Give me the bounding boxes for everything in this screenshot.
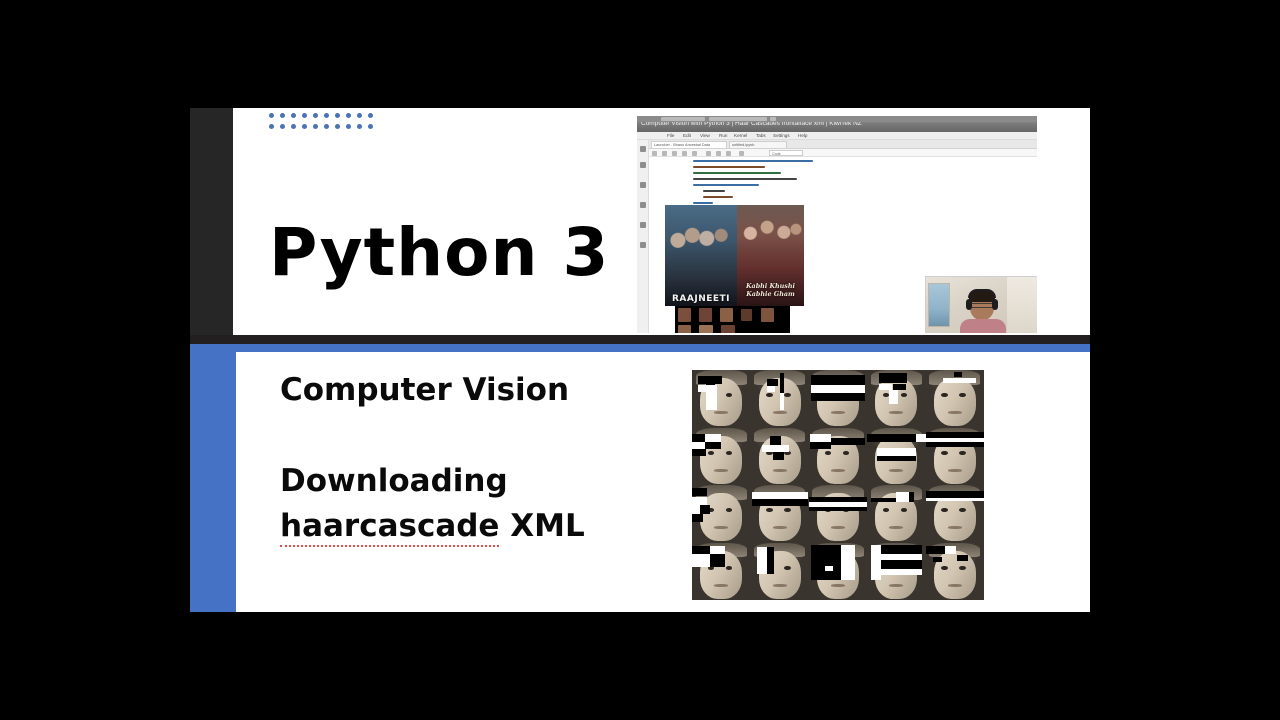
presenter-torso xyxy=(960,319,1006,333)
headphone-right-icon xyxy=(992,299,998,310)
haar-tile xyxy=(809,428,867,486)
menu-item-file[interactable]: File xyxy=(667,133,674,139)
embedded-video-window[interactable]: Computer Vision with Python 3 | Haar Cas… xyxy=(637,116,1037,333)
letterbox-left xyxy=(0,0,190,720)
browser-tab-active[interactable] xyxy=(709,117,767,121)
slide-top-accent-bar xyxy=(190,108,233,335)
haar-tile xyxy=(926,370,984,428)
haar-tile xyxy=(750,370,808,428)
poster-left-title: RAAJNEETI xyxy=(665,294,737,304)
face-thumbnail xyxy=(678,308,691,322)
menu-item-view[interactable]: View xyxy=(700,133,710,139)
slide-divider xyxy=(190,335,1090,344)
wall-background xyxy=(1007,277,1037,333)
headphone-band-icon xyxy=(968,289,996,298)
jupyter-left-rail[interactable] xyxy=(637,140,649,333)
restart-icon[interactable] xyxy=(726,151,731,156)
code-line xyxy=(693,178,797,180)
face-thumbnail xyxy=(699,308,712,322)
poster-right-title: Kabhi Khushi Kabhie Gham xyxy=(737,283,804,298)
haar-tile xyxy=(692,428,750,486)
haar-tile xyxy=(750,428,808,486)
notebook-toolbar[interactable]: Code xyxy=(649,149,1037,157)
haar-tile xyxy=(692,370,750,428)
menu-item-tabs[interactable]: Tabs xyxy=(756,133,766,139)
slide-subline-2: haarcascade XML xyxy=(280,508,585,544)
cut-icon[interactable] xyxy=(672,151,677,156)
slide-heading: Computer Vision xyxy=(280,372,569,408)
menu-item-kernel[interactable]: Kernel xyxy=(734,133,747,139)
notebook-tab-launcher[interactable]: Launcher - Bhanu Ancestral Data xyxy=(651,141,727,148)
face-thumbnail xyxy=(761,308,774,322)
menu-item-help[interactable]: Help xyxy=(798,133,807,139)
haar-feature-grid-image xyxy=(692,370,984,600)
haar-tile xyxy=(809,370,867,428)
detection-output-poster: RAAJNEETI Kabhi Khushi Kabhie Gham xyxy=(665,205,804,306)
toc-icon[interactable] xyxy=(640,202,646,208)
haar-tile xyxy=(809,485,867,543)
code-line xyxy=(693,166,765,168)
screenshot-canvas: Python 3 Computer Vision with Python 3 |… xyxy=(0,0,1280,720)
folder-icon[interactable] xyxy=(640,146,646,152)
slide-subline-1: Downloading xyxy=(280,463,508,499)
face-thumbnail xyxy=(741,309,752,321)
cell-type-select[interactable]: Code xyxy=(769,150,803,156)
face-thumbnail xyxy=(721,325,735,333)
running-icon[interactable] xyxy=(640,162,646,168)
haar-tile xyxy=(867,428,925,486)
copy-icon[interactable] xyxy=(682,151,687,156)
haar-tile xyxy=(867,485,925,543)
slide-bottom-accent-bar xyxy=(190,344,236,612)
save-icon[interactable] xyxy=(652,151,657,156)
haar-tile xyxy=(926,428,984,486)
haar-tile xyxy=(692,543,750,601)
haar-tile xyxy=(926,485,984,543)
notebook-tab-untitled[interactable]: untitled.ipynb xyxy=(729,141,787,148)
haar-tile xyxy=(750,485,808,543)
menu-item-settings[interactable]: Settings xyxy=(773,133,790,139)
slide-python3: Python 3 Computer Vision with Python 3 |… xyxy=(190,108,1090,335)
face-thumbnail xyxy=(699,325,713,333)
new-tab-icon[interactable] xyxy=(770,117,776,121)
fastforward-icon[interactable] xyxy=(739,151,744,156)
room-window xyxy=(928,283,950,327)
misspelled-word: haarcascade xyxy=(280,508,499,547)
code-line xyxy=(703,196,733,198)
presenter-webcam-overlay[interactable] xyxy=(925,276,1037,333)
run-icon[interactable] xyxy=(706,151,711,156)
code-line xyxy=(703,190,725,192)
jupyter-menubar[interactable]: File Edit View Run Kernel Tabs Settings … xyxy=(637,132,1037,140)
code-line xyxy=(693,184,759,186)
extensions-icon[interactable] xyxy=(640,222,646,228)
haar-tile xyxy=(867,370,925,428)
haar-tile xyxy=(926,543,984,601)
code-line xyxy=(693,160,813,162)
face-thumbnail xyxy=(720,308,733,322)
paste-icon[interactable] xyxy=(692,151,697,156)
letterbox-bottom xyxy=(0,612,1280,720)
menu-item-edit[interactable]: Edit xyxy=(683,133,691,139)
haar-tile xyxy=(867,543,925,601)
face-thumbnail xyxy=(678,325,691,333)
glasses-icon xyxy=(972,303,992,308)
browser-tab[interactable] xyxy=(661,117,705,121)
palette-icon[interactable] xyxy=(640,182,646,188)
letterbox-top xyxy=(0,0,1280,108)
haar-tile xyxy=(750,543,808,601)
movie-poster-left: RAAJNEETI xyxy=(665,205,737,306)
browser-tab-strip[interactable] xyxy=(637,116,1037,122)
slide-bottom-top-accent xyxy=(190,344,1090,352)
letterbox-right xyxy=(1090,0,1280,720)
slide-top-content: Python 3 Computer Vision with Python 3 |… xyxy=(233,108,1090,335)
slide-subline-2-rest: XML xyxy=(499,508,584,544)
haar-tile xyxy=(809,543,867,601)
dot-grid-decoration xyxy=(269,113,379,135)
menu-item-run[interactable]: Run xyxy=(719,133,727,139)
detected-faces-output xyxy=(675,306,790,333)
slide-computer-vision: Computer Vision Downloading haarcascade … xyxy=(190,344,1090,612)
page-title: Python 3 xyxy=(269,220,609,286)
code-line xyxy=(693,172,781,174)
add-cell-icon[interactable] xyxy=(662,151,667,156)
notebook-tab-strip[interactable]: Launcher - Bhanu Ancestral Data untitled… xyxy=(649,140,1037,149)
slide-bottom-content: Computer Vision Downloading haarcascade … xyxy=(236,352,1090,612)
haar-tile xyxy=(692,485,750,543)
stop-icon[interactable] xyxy=(716,151,721,156)
git-icon[interactable] xyxy=(640,242,646,248)
